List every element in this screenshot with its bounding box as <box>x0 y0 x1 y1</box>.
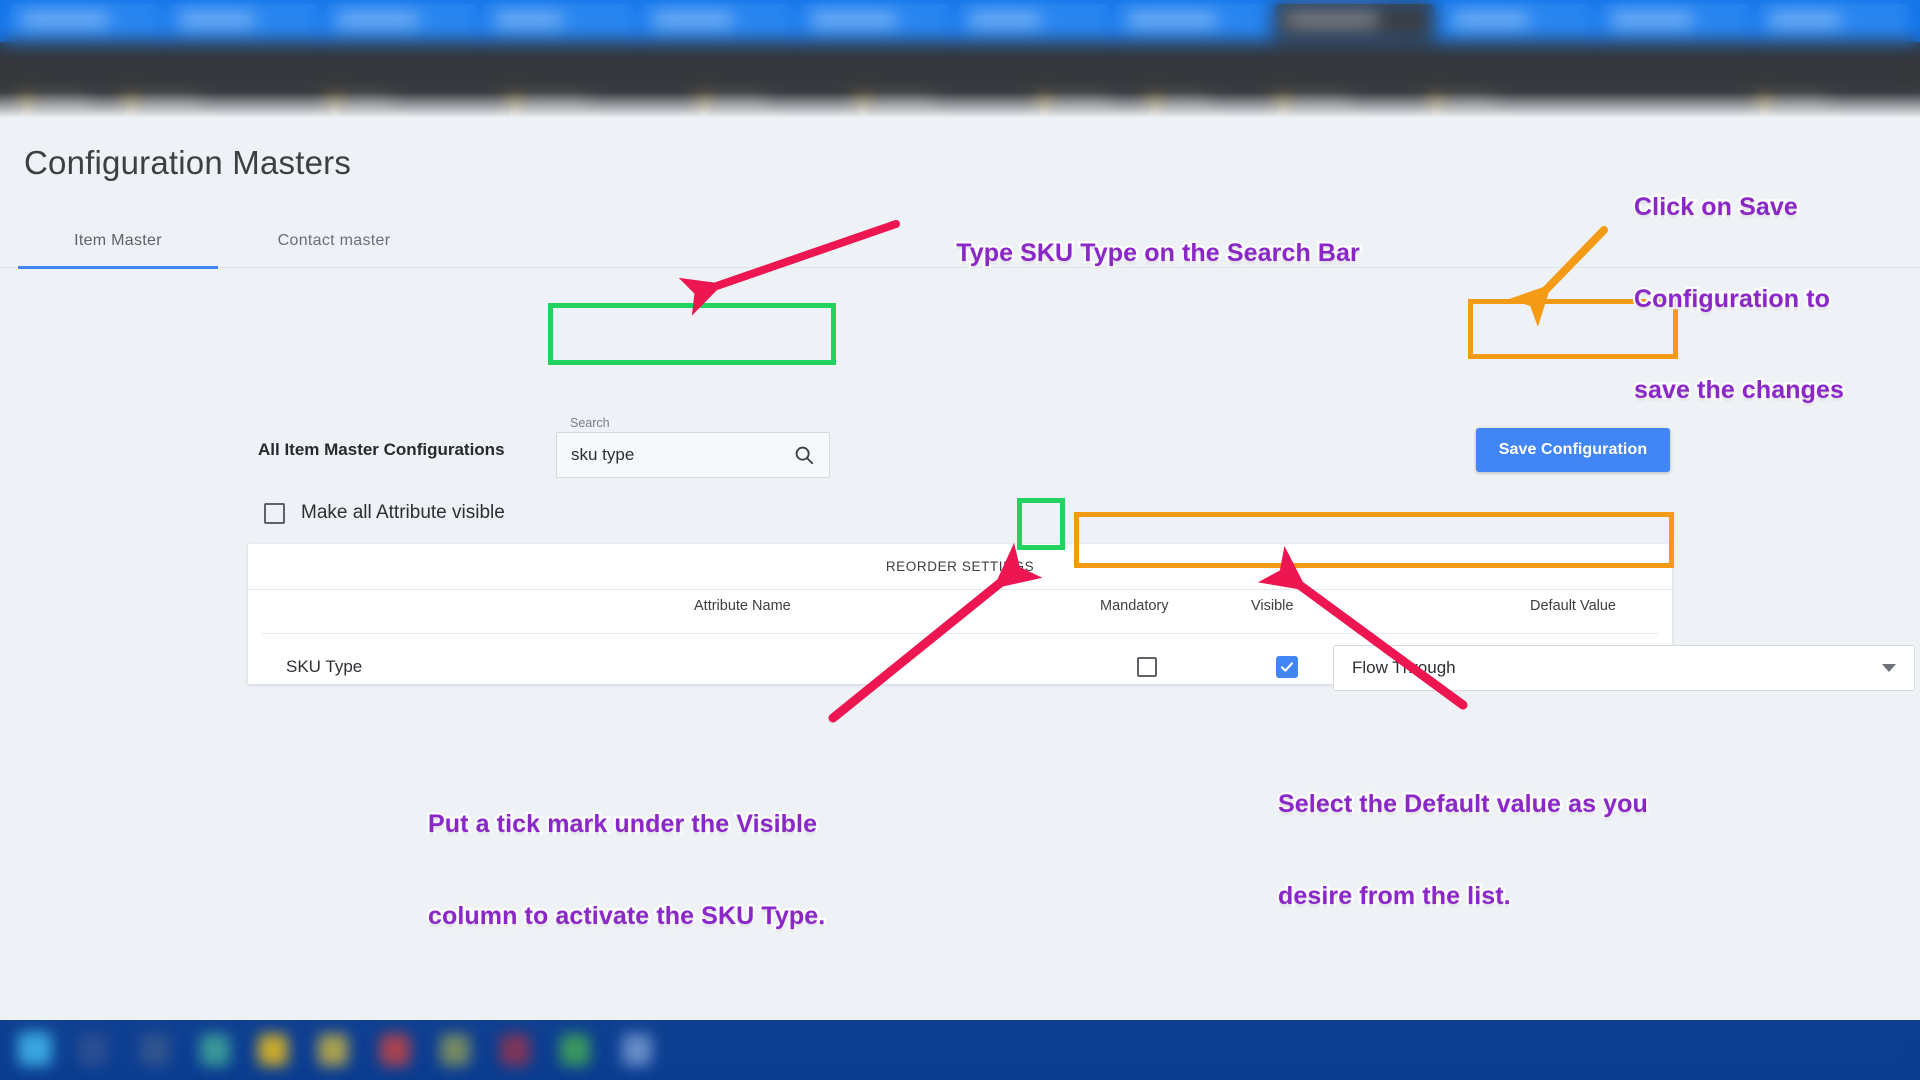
browser-chrome <box>0 0 1920 120</box>
tab-contact-master[interactable]: Contact master <box>234 215 434 266</box>
annotation-save-line3: save the changes <box>1634 375 1844 406</box>
taskbar <box>0 1020 1920 1080</box>
row-default-value-dropdown[interactable]: Flow Through <box>1333 645 1915 691</box>
row-mandatory-checkbox[interactable] <box>1137 657 1157 677</box>
annotation-save-line2: Configuration to <box>1634 284 1844 315</box>
search-icon[interactable] <box>793 444 815 466</box>
row-visible-checkbox[interactable] <box>1276 656 1298 678</box>
make-all-attribute-visible-label: Make all Attribute visible <box>301 502 505 524</box>
column-header-default-value: Default Value <box>1530 598 1616 626</box>
make-all-attribute-visible-row[interactable]: Make all Attribute visible <box>264 502 505 524</box>
column-header-visible: Visible <box>1251 598 1293 626</box>
search-input-value: sku type <box>571 445 634 465</box>
annotation-search: Type SKU Type on the Search Bar <box>928 207 1360 299</box>
annotation-default-line1: Select the Default value as you <box>1278 789 1648 820</box>
check-icon <box>1279 659 1295 675</box>
tab-item-master[interactable]: Item Master <box>18 215 218 266</box>
chevron-down-icon[interactable] <box>1882 664 1896 672</box>
annotation-default-value: Select the Default value as you desire f… <box>1278 728 1648 972</box>
annotation-search-line1: Type SKU Type on the Search Bar <box>956 239 1360 267</box>
annotation-save: Click on Save Configuration to save the … <box>1634 131 1844 467</box>
active-tab-indicator <box>18 266 218 269</box>
search-input[interactable]: sku type <box>556 432 830 478</box>
configuration-table: REORDER SETTINGS Attribute Name Mandator… <box>248 544 1672 684</box>
row-default-value-text: Flow Through <box>1352 658 1456 678</box>
chrome-fade <box>0 92 1920 120</box>
annotation-visible: Put a tick mark under the Visible column… <box>428 748 825 992</box>
tab-item-master-label: Item Master <box>74 232 162 250</box>
annotation-visible-line2: column to activate the SKU Type. <box>428 901 825 932</box>
page-title: Configuration Masters <box>24 144 351 182</box>
configurations-heading: All Item Master Configurations <box>258 440 505 460</box>
screen: Configuration Masters Item Master Contac… <box>0 0 1920 1080</box>
table-group-header: REORDER SETTINGS <box>248 544 1672 590</box>
column-header-mandatory: Mandatory <box>1100 598 1169 626</box>
taskbar-blur-overlay <box>0 1020 1920 1080</box>
row-attribute-name: SKU Type <box>286 657 362 677</box>
tab-contact-master-label: Contact master <box>278 232 391 250</box>
table-group-header-label: REORDER SETTINGS <box>248 559 1672 574</box>
column-header-attribute-name: Attribute Name <box>694 598 791 626</box>
search-caption: Search <box>570 416 610 430</box>
annotation-save-line1: Click on Save <box>1634 192 1844 223</box>
table-header-divider <box>262 633 1658 634</box>
annotation-default-line2: desire from the list. <box>1278 881 1648 912</box>
make-all-attribute-visible-checkbox[interactable] <box>264 503 285 524</box>
annotation-visible-line1: Put a tick mark under the Visible <box>428 809 825 840</box>
